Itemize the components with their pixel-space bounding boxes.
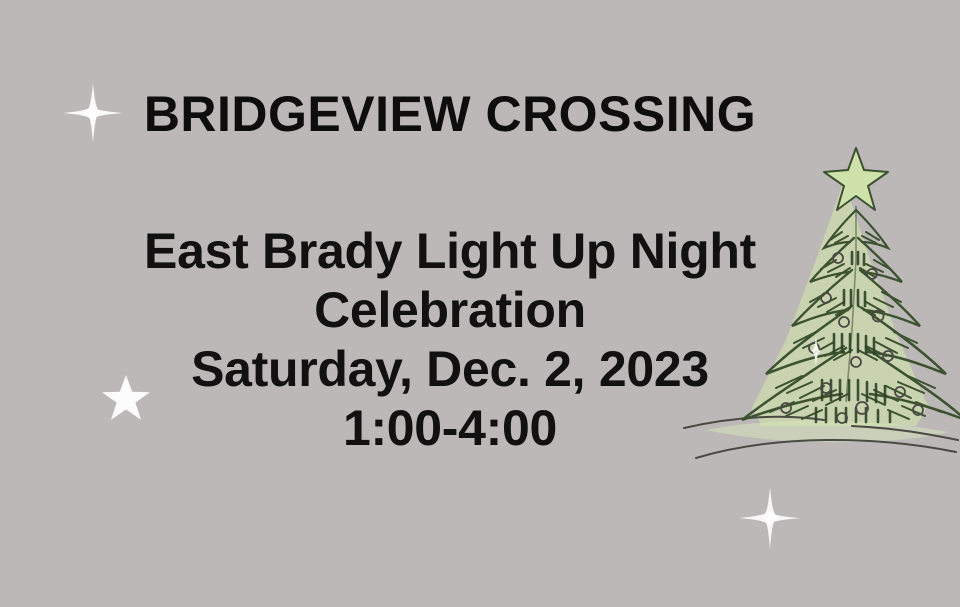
event-subtitle-line: Celebration (0, 281, 900, 340)
event-details: East Brady Light Up Night Celebration Sa… (0, 222, 900, 458)
star-topper-icon (824, 148, 888, 210)
page-title: BRIDGEVIEW CROSSING (0, 88, 900, 141)
event-flyer: BRIDGEVIEW CROSSING East Brady Light Up … (0, 0, 960, 607)
four-point-sparkle-icon (738, 486, 802, 550)
event-time-line: 1:00-4:00 (0, 399, 900, 458)
event-date-line: Saturday, Dec. 2, 2023 (0, 340, 900, 399)
event-name-line: East Brady Light Up Night (0, 222, 900, 281)
